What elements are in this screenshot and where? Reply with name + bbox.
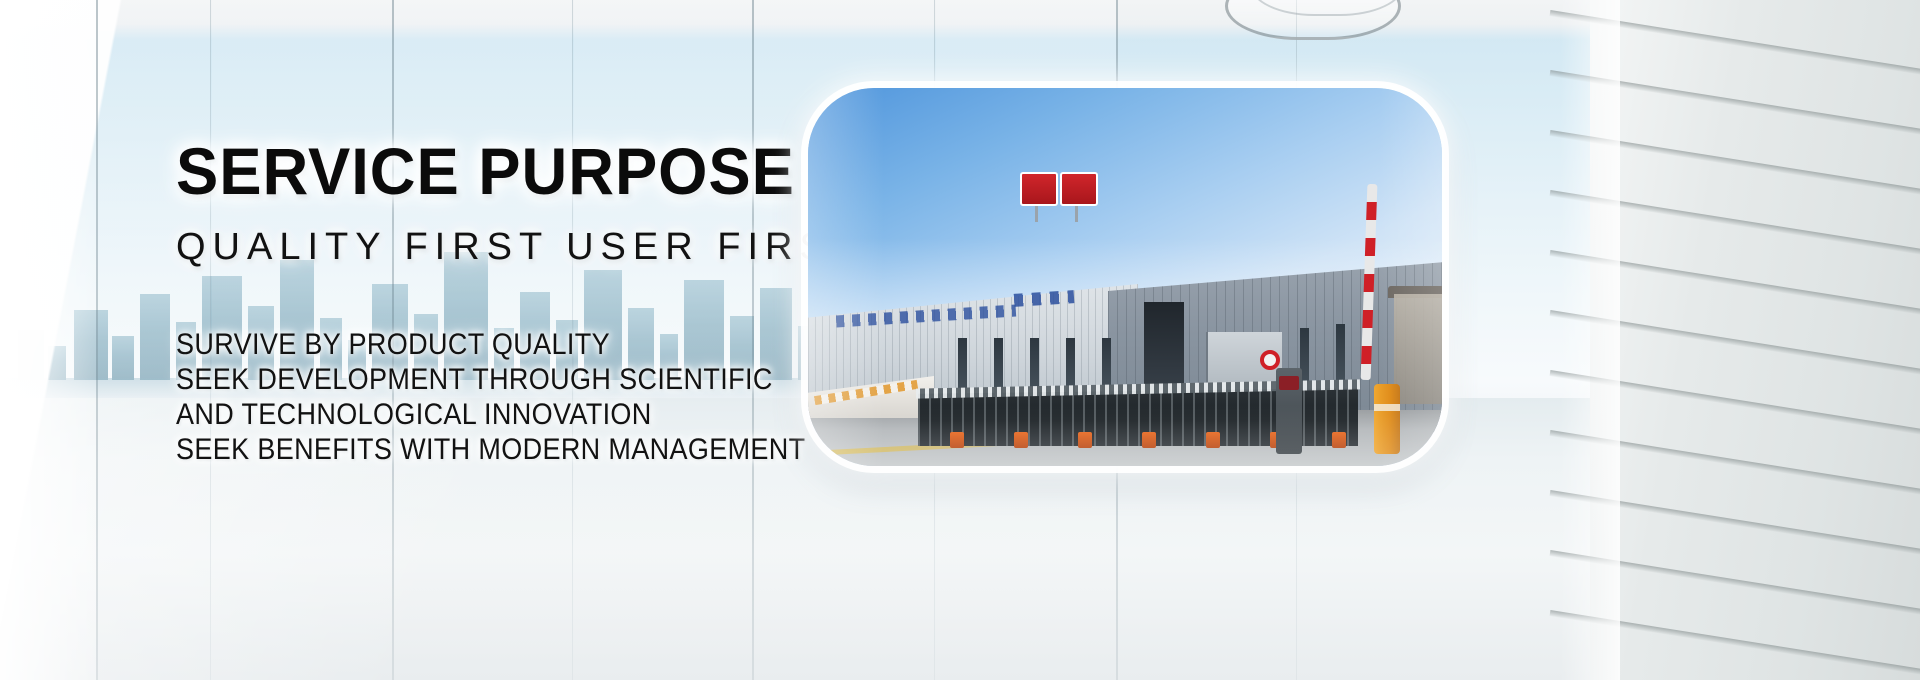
slogan-list: SURVIVE BY PRODUCT QUALITY SEEK DEVELOPM… (176, 327, 876, 467)
louver-wall-edge-highlight (1560, 0, 1620, 680)
subtitle: QUALITY FIRST USER FIRST (176, 227, 876, 269)
glass-mullion (96, 0, 98, 680)
slogan-line: SURVIVE BY PRODUCT QUALITY (176, 327, 806, 362)
page-title: SERVICE PURPOSE (176, 138, 848, 205)
factory-photo-card (808, 88, 1442, 466)
slogan-line: SEEK DEVELOPMENT THROUGH SCIENTIFIC (176, 362, 806, 397)
headline-text-block: SERVICE PURPOSE QUALITY FIRST USER FIRST… (176, 138, 876, 467)
service-purpose-banner: SERVICE PURPOSE QUALITY FIRST USER FIRST… (0, 0, 1920, 680)
photo-edge-blur-overlay (808, 88, 1442, 466)
slogan-line: SEEK BENEFITS WITH MODERN MANAGEMENT (176, 432, 806, 467)
slogan-line: AND TECHNOLOGICAL INNOVATION (176, 397, 806, 432)
louvered-wall (1590, 0, 1920, 680)
